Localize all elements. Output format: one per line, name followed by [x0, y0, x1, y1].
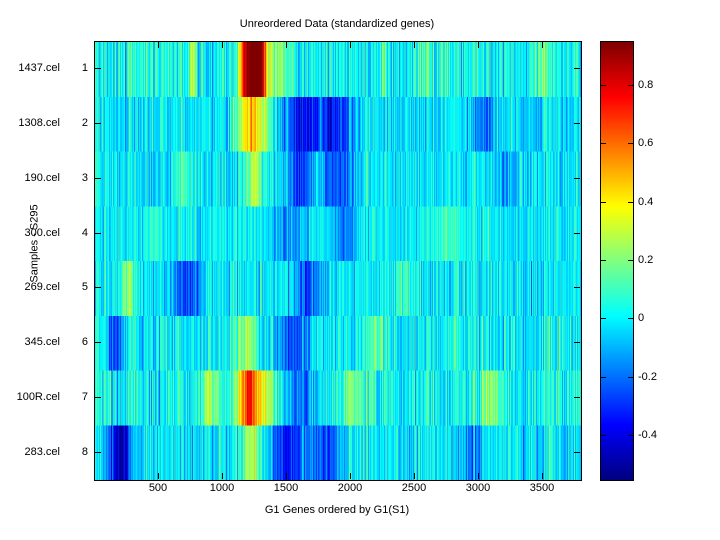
- x-axis-title: G1 Genes ordered by G1(S1): [94, 505, 580, 516]
- y-axis-tick-label: 1: [62, 63, 88, 74]
- x-axis-tick-label: 3500: [512, 483, 572, 494]
- page-title: Unreordered Data (standardized genes): [94, 18, 580, 31]
- y-axis-title: Samples - S295: [30, 184, 41, 304]
- colorbar-tick-label: 0.2: [638, 255, 653, 266]
- x-axis-tick-label: 2500: [384, 483, 444, 494]
- colorbar-tick-label: 0.8: [638, 80, 653, 91]
- sample-row-label: 1437.cel: [2, 63, 60, 74]
- y-axis-tick-label: 3: [62, 173, 88, 184]
- sample-row-label: 190.cel: [2, 173, 60, 184]
- colorbar-tick-label: 0.4: [638, 197, 653, 208]
- y-axis-tick-label: 6: [62, 337, 88, 348]
- colorbar-tick-label: 0.6: [638, 138, 653, 149]
- colorbar-tick-label: -0.4: [638, 430, 657, 441]
- y-axis-tick-label: 2: [62, 118, 88, 129]
- heatmap-axes[interactable]: [94, 41, 582, 481]
- y-axis-tick-label: 4: [62, 228, 88, 239]
- sample-row-label: 283.cel: [2, 447, 60, 458]
- sample-row-label: 100R.cel: [2, 392, 60, 403]
- x-axis-tick-label: 500: [128, 483, 188, 494]
- y-axis-tick-label: 5: [62, 282, 88, 293]
- heatmap-image[interactable]: [95, 42, 581, 480]
- y-axis-tick-label: 7: [62, 392, 88, 403]
- x-axis-tick-label: 1500: [256, 483, 316, 494]
- sample-row-label: 345.cel: [2, 337, 60, 348]
- colorbar-gradient: [601, 42, 633, 480]
- colorbar-tick-label: -0.2: [638, 372, 657, 383]
- y-axis-tick-label: 8: [62, 447, 88, 458]
- colorbar-tick-label: 0: [638, 313, 644, 324]
- colorbar[interactable]: [600, 41, 634, 481]
- x-axis-tick-label: 3000: [448, 483, 508, 494]
- x-axis-tick-label: 1000: [192, 483, 252, 494]
- figure-canvas: Unreordered Data (standardized genes) 11…: [0, 0, 720, 540]
- sample-row-label: 1308.cel: [2, 118, 60, 129]
- x-axis-tick-label: 2000: [320, 483, 380, 494]
